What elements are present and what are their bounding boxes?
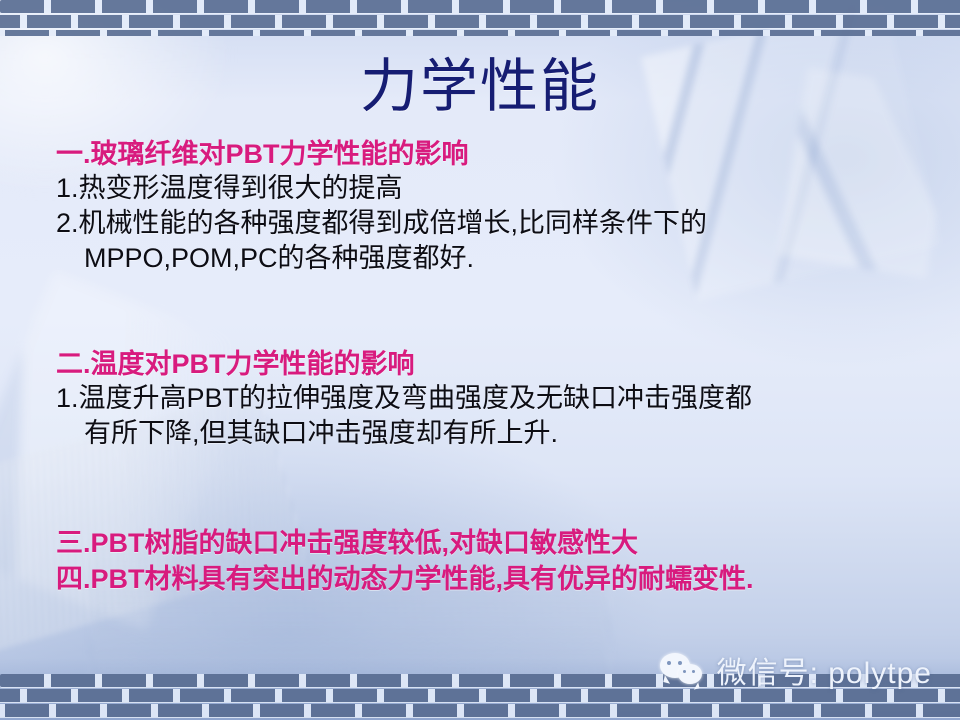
section-two-line-2: 有所下降,但其缺口冲击强度却有所上升. [56, 416, 936, 451]
section-two-heading: 二.温度对PBT力学性能的影响 [56, 349, 936, 381]
wechat-watermark: 微信号: polytpe [660, 648, 932, 692]
section-two-line-1: 1.温度升高PBT的拉伸强度及弯曲强度及无缺口冲击强度都 [56, 381, 936, 416]
section-one-line-1: 1.热变形温度得到很大的提高 [56, 171, 936, 206]
section-one: 一.玻璃纤维对PBT力学性能的影响 1.热变形温度得到很大的提高 2.机械性能的… [56, 139, 936, 276]
page-title: 力学性能 [0, 58, 960, 116]
section-two: 二.温度对PBT力学性能的影响 1.温度升高PBT的拉伸强度及弯曲强度及无缺口冲… [56, 349, 936, 451]
pink-item-4: 四.PBT材料具有突出的动态力学性能,具有优异的耐蠕变性. [56, 561, 936, 597]
wechat-bubble-large [660, 653, 690, 678]
pink-item-3: 三.PBT树脂的缺口冲击强度较低,对缺口敏感性大 [56, 525, 936, 561]
section-three: 三.PBT树脂的缺口冲击强度较低,对缺口敏感性大 四.PBT材料具有突出的动态力… [56, 525, 936, 597]
section-one-heading: 一.玻璃纤维对PBT力学性能的影响 [56, 139, 936, 171]
wechat-bubble-small [678, 664, 702, 684]
slide-canvas: 力学性能 一.玻璃纤维对PBT力学性能的影响 1.热变形温度得到很大的提高 2.… [0, 0, 960, 720]
wechat-id-text: 微信号: polytpe [717, 648, 932, 692]
wechat-icon [660, 653, 706, 687]
section-one-line-3: MPPO,POM,PC的各种强度都好. [56, 241, 936, 276]
section-one-line-2: 2.机械性能的各种强度都得到成倍增长,比同样条件下的 [56, 206, 936, 241]
